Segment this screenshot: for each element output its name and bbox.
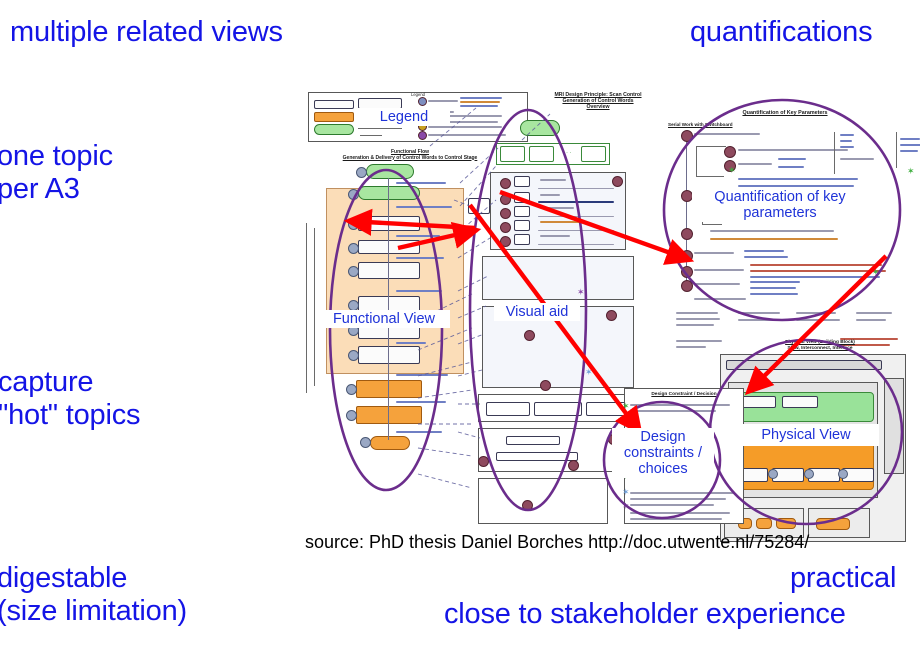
slide-canvas: Legend Functional Flow Generation & Deli… [0,0,920,660]
overlay-label-quantification: Quantification of key parameters [692,188,868,222]
overlay-label-physical-view: Physical View [733,424,879,446]
caption-practical: practical [790,562,896,595]
overlay-label-legend: Legend [358,108,450,126]
collage-connectors [300,88,920,528]
caption-close-to-stakeholder: close to stakeholder experience [444,598,846,631]
caption-digestable: digestable (size limitation) [0,562,187,628]
source-citation: source: PhD thesis Daniel Borches http:/… [305,532,809,553]
overlay-label-visual-aid: Visual aid [494,303,580,321]
overlay-label-functional-view: Functional View [318,310,450,328]
caption-multiple-related-views: multiple related views [10,16,283,49]
overlay-label-design-choices: Design constraints / choices [612,428,714,478]
caption-one-topic-per-a3: one topic per A3 [0,140,113,206]
a3-poster-collage: Legend Functional Flow Generation & Deli… [300,88,920,528]
caption-capture-hot-topics: capture "hot" topics [0,366,140,432]
caption-quantifications: quantifications [690,16,872,49]
